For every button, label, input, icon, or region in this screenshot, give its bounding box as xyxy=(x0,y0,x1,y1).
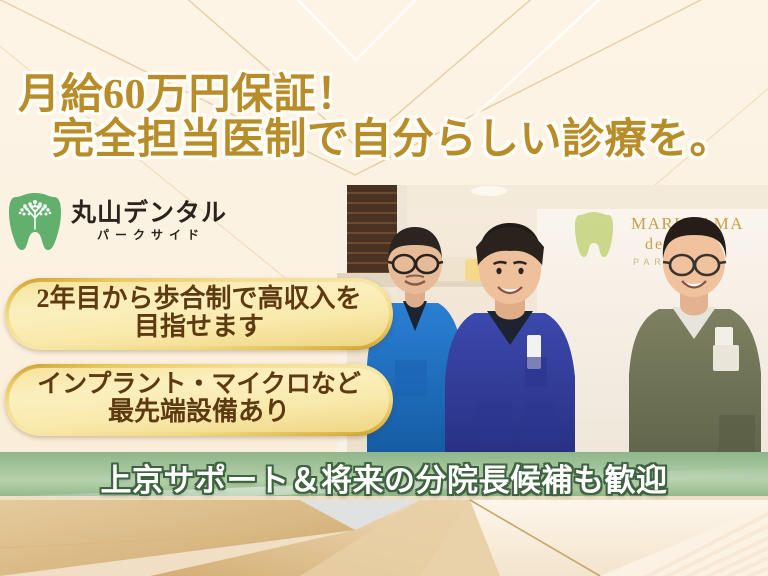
pill-commission-income-inner: 2年目から歩合制で高収入を 目指せます xyxy=(9,282,389,346)
recruitment-ad-banner: 月給60万円保証！ 完全担当医制で自分らしい診療を。 xyxy=(0,0,768,576)
support-banner: 上京サポート＆将来の分院長候補も歓迎 xyxy=(0,452,768,503)
tooth-tree-logo-icon xyxy=(8,190,62,252)
staff-photo: MARUYAMA dental PARKSIDE xyxy=(337,185,768,466)
pill-advanced-equipment-line-2: 最先端設備あり xyxy=(19,398,379,426)
logo-clinic-name: 丸山デンタル xyxy=(71,200,227,226)
pill-commission-income: 2年目から歩合制で高収入を 目指せます xyxy=(5,278,393,350)
pill-advanced-equipment-inner: インプラント・マイクロなど 最先端設備あり xyxy=(9,368,389,432)
pill-advanced-equipment: インプラント・マイクロなど 最先端設備あり xyxy=(5,364,393,436)
logo-clinic-subtitle: パークサイド xyxy=(71,229,227,242)
logo-text-block: 丸山デンタル パークサイド xyxy=(71,200,227,241)
headline: 月給60万円保証！ 完全担当医制で自分らしい診療を。 xyxy=(0,74,768,162)
bottom-facet-decoration xyxy=(0,496,768,576)
pill-advanced-equipment-line-1: インプラント・マイクロなど xyxy=(19,372,379,399)
headline-line-2: 完全担当医制で自分らしい診療を。 xyxy=(0,119,768,163)
pill-commission-income-line-2: 目指せます xyxy=(19,313,379,341)
pill-commission-income-line-1: 2年目から歩合制で高収入を xyxy=(19,285,379,313)
headline-line-1: 月給60万円保証！ xyxy=(0,74,768,118)
support-banner-text: 上京サポート＆将来の分院長候補も歓迎 xyxy=(101,455,668,500)
clinic-logo: 丸山デンタル パークサイド xyxy=(8,190,227,252)
